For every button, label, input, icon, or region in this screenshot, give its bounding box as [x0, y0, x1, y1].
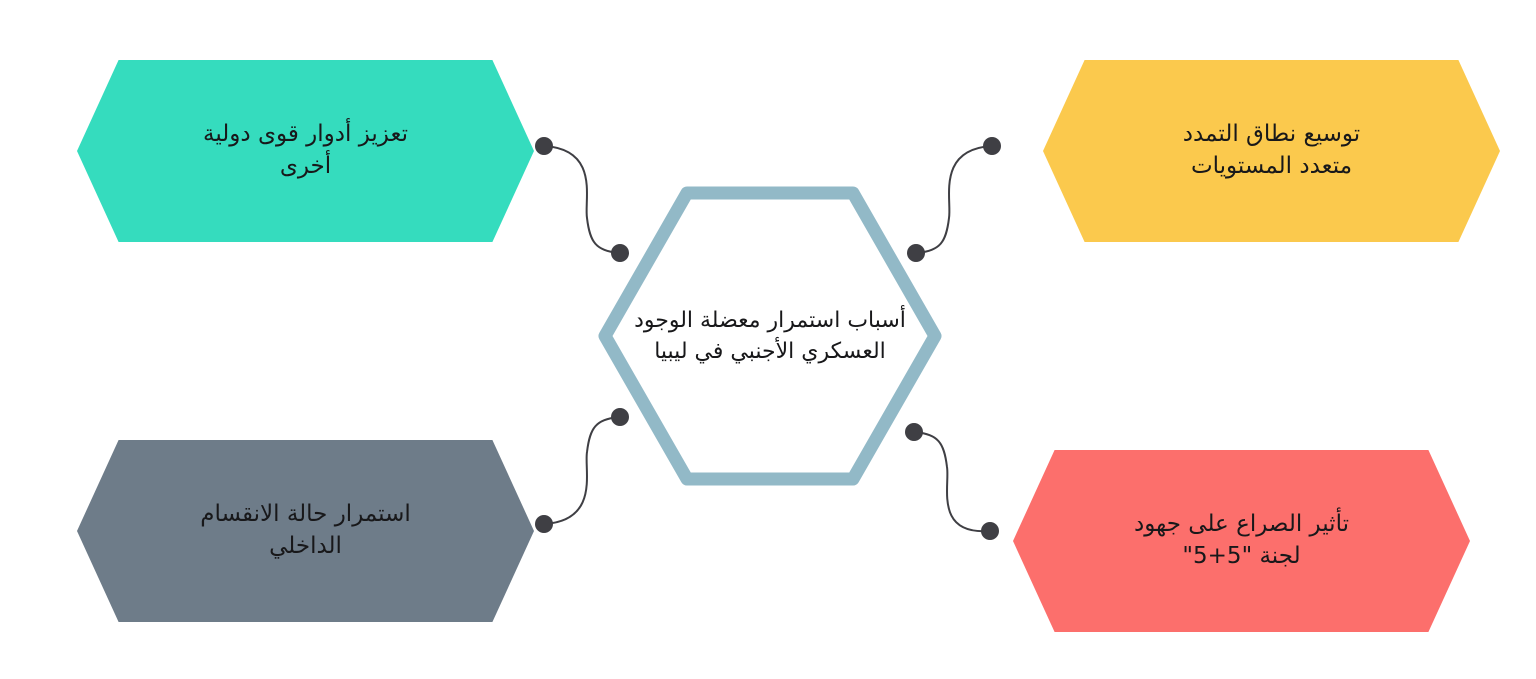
node-top-left[interactable]: تعزيز أدوار قوى دولية أخرى: [77, 60, 534, 242]
connector-dot: [535, 515, 553, 533]
connector-dot: [983, 137, 1001, 155]
diagram-canvas: تعزيز أدوار قوى دولية أخرى توسيع نطاق ال…: [0, 0, 1536, 679]
node-top-right-label: توسيع نطاق التمدد متعدد المستويات: [1149, 119, 1394, 182]
node-top-left-label: تعزيز أدوار قوى دولية أخرى: [169, 119, 442, 182]
node-bottom-left-label: استمرار حالة الانقسام الداخلي: [166, 499, 445, 562]
connector-dot: [535, 137, 553, 155]
node-center[interactable]: أسباب استمرار معضلة الوجود العسكري الأجن…: [598, 186, 942, 486]
node-bottom-right-label: تأثير الصراع على جهود لجنة "5+5": [1100, 509, 1383, 572]
node-bottom-left[interactable]: استمرار حالة الانقسام الداخلي: [77, 440, 534, 622]
node-bottom-right[interactable]: تأثير الصراع على جهود لجنة "5+5": [1013, 450, 1470, 632]
node-top-right[interactable]: توسيع نطاق التمدد متعدد المستويات: [1043, 60, 1500, 242]
connector-dot: [981, 522, 999, 540]
node-center-label: أسباب استمرار معضلة الوجود العسكري الأجن…: [598, 305, 942, 367]
